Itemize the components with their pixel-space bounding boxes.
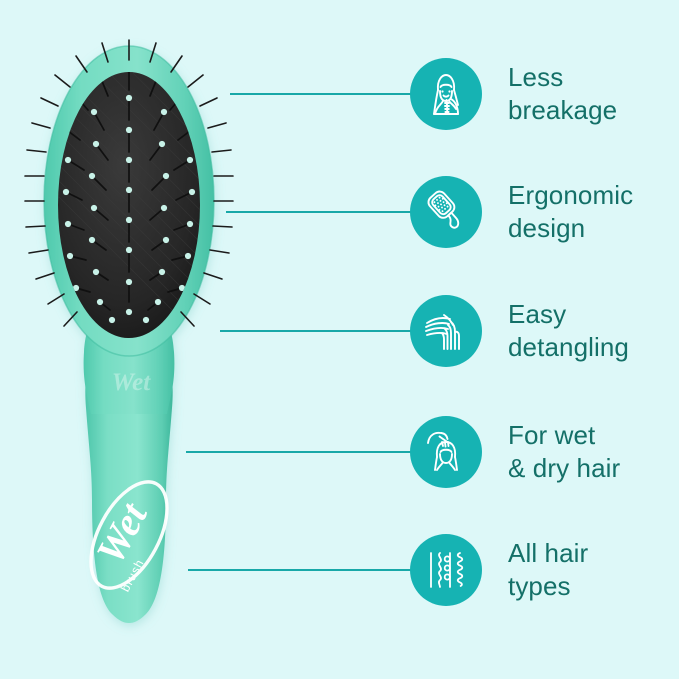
- connector-line-2: [226, 211, 412, 213]
- feature-row-less-breakage: Less breakage: [170, 46, 679, 142]
- feature-icon-all-hair-types: [410, 534, 482, 606]
- feature-row-for-wet-and-dry-hair: For wet & dry hair: [170, 404, 679, 500]
- connector-line-3: [220, 330, 412, 332]
- hand-combing-hair-icon: [421, 306, 471, 356]
- neck-brand-emboss: Wet: [112, 369, 151, 396]
- feature-row-easy-detangling: Easy detangling: [170, 283, 679, 379]
- connector-line-1: [230, 93, 412, 95]
- feature-label-easy-detangling: Easy detangling: [508, 298, 679, 364]
- feature-label-for-wet-and-dry-hair: For wet & dry hair: [508, 419, 679, 485]
- feature-icon-less-breakage: [410, 58, 482, 130]
- feature-icon-for-wet-and-dry-hair: [410, 416, 482, 488]
- feature-row-ergonomic-design: Ergonomic design: [170, 164, 679, 260]
- shower-head-over-head-icon: [421, 427, 471, 477]
- feature-icon-easy-detangling: [410, 295, 482, 367]
- paddle-brush-icon: [421, 187, 471, 237]
- feature-icon-ergonomic-design: [410, 176, 482, 248]
- hair-strand-types-icon: [421, 545, 471, 595]
- handle-brand-logo: Wet brush: [75, 470, 182, 601]
- feature-label-ergonomic-design: Ergonomic design: [508, 179, 679, 245]
- feature-row-all-hair-types: All hair types: [170, 522, 679, 618]
- neck-logo-text: Wet: [112, 369, 151, 396]
- connector-line-4: [186, 451, 412, 453]
- woman-with-braid-icon: [421, 69, 471, 119]
- product-infographic: Wet Wet brush: [0, 0, 679, 679]
- connector-line-5: [188, 569, 412, 571]
- feature-label-less-breakage: Less breakage: [508, 61, 679, 127]
- feature-label-all-hair-types: All hair types: [508, 537, 679, 603]
